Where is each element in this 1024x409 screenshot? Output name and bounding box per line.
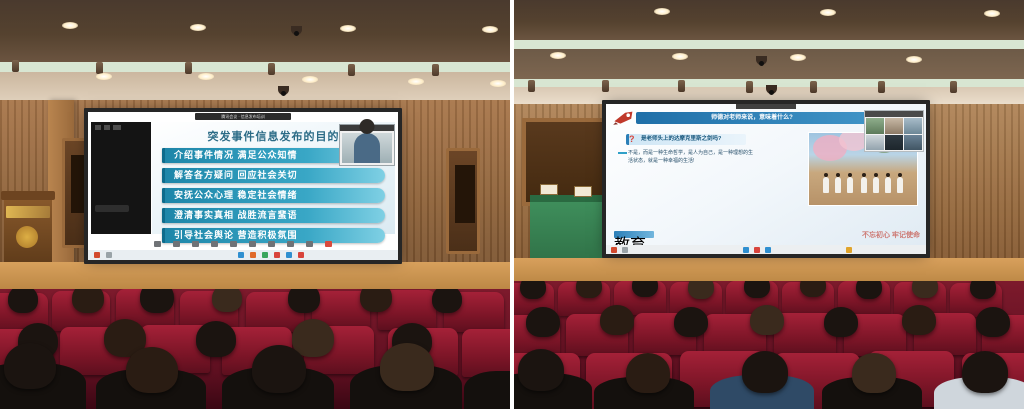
meeting-toolbar[interactable]: [88, 238, 398, 250]
person-figure: [885, 177, 891, 193]
microphone-icon[interactable]: [154, 241, 161, 247]
downlight-icon: [672, 53, 688, 60]
speaker-video-thumbnail[interactable]: [339, 124, 395, 166]
ceiling-light-cove: [514, 40, 1024, 49]
right-photo-panel: 师德对老师来说，意味着什么? 是老师头上的达摩克里斯之剑吗? ? 不是，而是一种…: [514, 0, 1024, 409]
meeting-icon[interactable]: [250, 252, 256, 258]
auditorium-seat: [462, 329, 510, 377]
downlight-icon: [790, 54, 806, 61]
track-spotlight-icon: [528, 80, 535, 92]
participant-tile[interactable]: [885, 135, 903, 151]
participant-tile[interactable]: [904, 135, 922, 151]
audience-area: [0, 289, 510, 409]
lectern: [4, 196, 52, 268]
track-spotlight-icon: [746, 81, 753, 93]
downlight-icon: [820, 9, 836, 16]
track-spotlight-icon: [185, 62, 192, 74]
participant-tile[interactable]: [904, 118, 922, 134]
person-figure: [835, 177, 841, 193]
downlight-icon: [190, 24, 206, 31]
browser-icon[interactable]: [238, 252, 244, 258]
rocket-icon: [612, 109, 636, 125]
pip-video-feed: [342, 133, 392, 163]
slide-body-text: 不是，而是一种生命哲学，是人为自己，是一种理想的生活状态，就是一种幸福的生活!: [628, 149, 753, 165]
folder-icon[interactable]: [846, 247, 852, 253]
meeting-window-title: 腾讯会议 · 信息发布培训: [195, 113, 291, 120]
os-taskbar[interactable]: [606, 245, 926, 254]
downlight-icon: [340, 25, 356, 32]
question-mark-icon: ?: [629, 134, 635, 145]
audience-head: [212, 289, 242, 312]
downlight-icon: [408, 78, 424, 85]
track-spotlight-icon: [432, 64, 439, 76]
audience-head: [288, 289, 320, 313]
audience-head: [600, 305, 634, 335]
participants-icon[interactable]: [211, 241, 218, 247]
panel-divider: [510, 0, 514, 409]
participant-video-grid[interactable]: [864, 110, 924, 152]
person-figure: [861, 177, 867, 193]
audience-head: [526, 307, 560, 337]
slide-tag: 教育思考: [614, 231, 654, 238]
lectern-top: [1, 191, 55, 200]
track-spotlight-icon: [12, 60, 19, 72]
track-spotlight-icon: [602, 80, 609, 92]
track-spotlight-icon: [348, 64, 355, 76]
person-figure: [897, 177, 903, 193]
participant-tile[interactable]: [866, 118, 884, 134]
lectern-nameplate: [6, 206, 50, 218]
audience-area: [514, 281, 1024, 409]
slide-banner-title: 师德对老师来说，意味着什么?: [636, 112, 868, 124]
chat-icon[interactable]: [230, 241, 237, 247]
downlight-icon: [198, 73, 214, 80]
ppt-icon[interactable]: [754, 247, 760, 253]
projection-screen: 腾讯会议 · 信息发布培训 突发事件信息发布的目的 介绍事件情况 满足公众知情 …: [88, 112, 398, 260]
bullet-dash-icon: [618, 152, 627, 154]
os-taskbar[interactable]: [88, 250, 398, 260]
presentation-slide: 师德对老师来说，意味着什么? 是老师头上的达摩克里斯之剑吗? ? 不是，而是一种…: [606, 104, 926, 254]
ceiling-upper-band: [0, 0, 510, 62]
photo-composite: 腾讯会议 · 信息发布培训 突发事件信息发布的目的 介绍事件情况 满足公众知情 …: [0, 0, 1024, 409]
downlight-icon: [482, 26, 498, 33]
downlight-icon: [906, 56, 922, 63]
app-icon[interactable]: [286, 252, 292, 258]
audience-head: [970, 281, 996, 299]
audience-head: [576, 281, 602, 298]
grid-cells: [866, 118, 922, 150]
downlight-icon: [984, 10, 1000, 17]
ceiling-mid-band: [514, 49, 1024, 79]
settings-icon[interactable]: [287, 241, 294, 247]
slide-bullet: 解答各方疑问 回应社会关切: [162, 168, 385, 183]
reaction-icon[interactable]: [268, 241, 275, 247]
audience-head: [800, 281, 826, 297]
slide-question: 是老师头上的达摩克里斯之剑吗?: [626, 134, 746, 145]
app-icon[interactable]: [298, 252, 304, 258]
slide-bullet: 安抚公众心理 稳定社会情绪: [162, 188, 385, 203]
audience-head: [4, 343, 56, 389]
audience-head: [380, 343, 434, 391]
folder-icon[interactable]: [274, 252, 280, 258]
audience-head: [432, 289, 462, 313]
mail-icon[interactable]: [262, 252, 268, 258]
table-nameplate: [574, 186, 592, 197]
audience-head: [856, 281, 882, 299]
downlight-icon: [96, 73, 112, 80]
speaker-head: [360, 119, 375, 134]
participant-tile[interactable]: [866, 135, 884, 151]
audience-head: [744, 281, 770, 298]
door-knob-icon: [469, 211, 472, 214]
school-emblem-icon: [16, 226, 38, 248]
person-figure: [873, 177, 879, 193]
audience-shoulders: [464, 371, 510, 409]
audience-head: [824, 307, 858, 337]
projection-screen: 师德对老师来说，意味着什么? 是老师头上的达摩克里斯之剑吗? ? 不是，而是一种…: [606, 104, 926, 254]
meeting-self-video-panel[interactable]: [91, 122, 151, 234]
slide-footer-note: 不忘初心 牢记使命: [862, 230, 920, 240]
track-spotlight-icon: [678, 80, 685, 92]
downlight-icon: [550, 52, 566, 59]
downlight-icon: [490, 80, 506, 87]
track-spotlight-icon: [810, 81, 817, 93]
side-door[interactable]: [446, 148, 480, 254]
audience-head: [976, 307, 1010, 337]
audience-head: [674, 307, 708, 337]
audience-head: [72, 289, 104, 313]
downlight-icon: [62, 22, 78, 29]
track-spotlight-icon: [268, 63, 275, 75]
meeting-app-window: 腾讯会议 · 信息发布培训 突发事件信息发布的目的 介绍事件情况 满足公众知情 …: [88, 112, 398, 260]
downlight-icon: [302, 76, 318, 83]
person-figure: [823, 177, 829, 193]
audience-head: [140, 289, 174, 313]
search-icon[interactable]: [622, 247, 628, 253]
downlight-icon: [654, 8, 670, 15]
more-icon[interactable]: [306, 241, 313, 247]
audience-head: [252, 345, 306, 393]
audience-head: [126, 347, 178, 393]
window-controls-icon[interactable]: [95, 125, 121, 130]
audience-head: [902, 305, 936, 335]
speaker-silhouette: [354, 133, 380, 163]
search-icon[interactable]: [106, 252, 112, 258]
track-spotlight-icon: [950, 81, 957, 93]
audience-head: [750, 305, 784, 335]
audience-head: [852, 353, 896, 393]
window-title-bar: [736, 104, 796, 109]
leave-meeting-icon[interactable]: [325, 241, 332, 247]
meeting-icon[interactable]: [765, 247, 771, 253]
audience-head: [742, 351, 788, 393]
audience-head: [8, 289, 38, 313]
audience-head: [520, 281, 546, 299]
person-figure: [847, 177, 853, 193]
audience-head: [360, 289, 392, 312]
start-icon[interactable]: [611, 247, 617, 253]
share-screen-icon[interactable]: [192, 241, 199, 247]
audience-head: [912, 281, 938, 298]
grid-title-bar[interactable]: [865, 111, 923, 117]
table-nameplate: [540, 184, 558, 195]
ceiling-upper-band: [514, 0, 1024, 40]
left-photo-panel: 腾讯会议 · 信息发布培训 突发事件信息发布的目的 介绍事件情况 满足公众知情 …: [0, 0, 510, 409]
audience-head: [632, 281, 658, 297]
audience-head: [962, 351, 1008, 393]
track-spotlight-icon: [878, 81, 885, 93]
audience-head: [518, 349, 564, 391]
audience-head: [196, 321, 236, 357]
browser-icon[interactable]: [743, 247, 749, 253]
audience-head: [626, 353, 670, 393]
camera-icon[interactable]: [173, 241, 180, 247]
slide-bullet: 澄清事实真相 战胜流言蜚语: [162, 208, 385, 223]
record-icon[interactable]: [249, 241, 256, 247]
audience-head: [688, 281, 714, 299]
video-control-strip[interactable]: [95, 205, 129, 212]
start-icon[interactable]: [94, 252, 100, 258]
participant-tile[interactable]: [885, 118, 903, 134]
